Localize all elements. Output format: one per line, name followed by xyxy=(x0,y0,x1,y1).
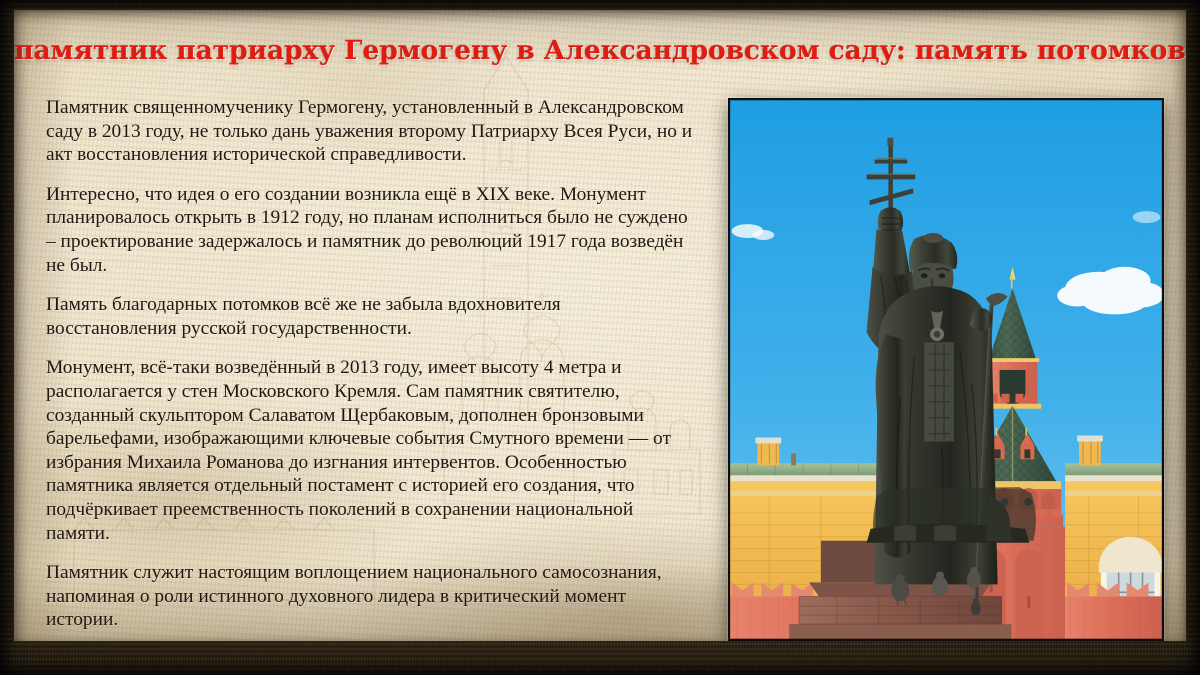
page-title: памятник патриарху Гермогену в Александр… xyxy=(14,35,1185,66)
poster-root: памятник патриарху Гермогену в Александр… xyxy=(0,0,1200,675)
monument-illustration xyxy=(730,100,1162,639)
paragraph: Памятник служит настоящим воплощением на… xyxy=(46,561,694,632)
paragraph: Памятник священномученику Гермогену, уст… xyxy=(46,96,694,167)
paragraph: Монумент, всё-таки возведённый в 2013 го… xyxy=(46,356,694,545)
article-body: Памятник священномученику Гермогену, уст… xyxy=(46,96,694,632)
parchment-sheet: памятник патриарху Гермогену в Александр… xyxy=(14,10,1186,641)
paragraph: Интересно, что идея о его создании возни… xyxy=(46,183,694,277)
monument-photo xyxy=(728,98,1164,641)
paragraph: Память благодарных потомков всё же не за… xyxy=(46,293,694,340)
title-band: памятник патриарху Гермогену в Александр… xyxy=(14,28,1186,72)
